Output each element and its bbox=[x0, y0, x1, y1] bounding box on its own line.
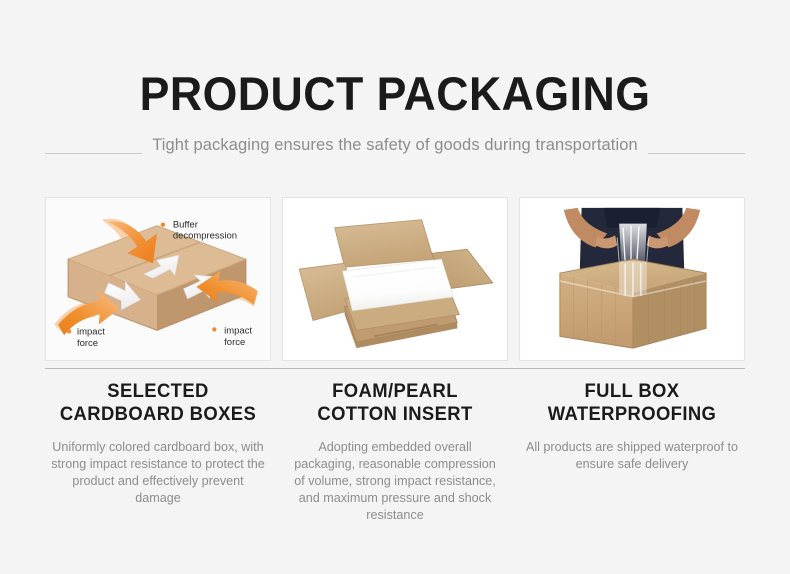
feature-selected-cardboard-boxes: SELECTED CARDBOARD BOXES Uniformly color… bbox=[45, 380, 271, 524]
card-foam-pearl-cotton-insert[interactable] bbox=[282, 197, 508, 361]
card-row: Buffer decompression impact force impact… bbox=[45, 197, 745, 361]
feature-heading: FULL BOX WATERPROOFING bbox=[522, 380, 741, 426]
subtitle-text: Tight packaging ensures the safety of go… bbox=[142, 136, 648, 154]
feature-full-box-waterproofing: FULL BOX WATERPROOFING All products are … bbox=[519, 380, 745, 524]
label-buffer-line2: decompression bbox=[173, 231, 237, 242]
subtitle-block: Tight packaging ensures the safety of go… bbox=[45, 134, 745, 164]
label-impact-left-line2: force bbox=[77, 338, 98, 349]
feature-body: Uniformly colored cardboard box, with st… bbox=[45, 439, 271, 507]
photo-person-wrapping-box bbox=[520, 198, 744, 360]
illustration-impact-box: Buffer decompression impact force impact… bbox=[46, 198, 270, 360]
feature-body: All products are shipped waterproof to e… bbox=[519, 439, 745, 473]
subtitle: Tight packaging ensures the safety of go… bbox=[45, 134, 745, 156]
feature-heading: FOAM/PEARL COTTON INSERT bbox=[285, 380, 504, 426]
label-impact-right-line1: impact bbox=[224, 325, 252, 336]
content-divider bbox=[45, 368, 745, 369]
feature-heading-line2: CARDBOARD BOXES bbox=[48, 403, 267, 426]
card-full-box-waterproofing[interactable] bbox=[519, 197, 745, 361]
feature-heading: SELECTED CARDBOARD BOXES bbox=[48, 380, 267, 426]
feature-heading-line1: SELECTED bbox=[48, 380, 267, 403]
feature-heading-line1: FULL BOX bbox=[522, 380, 741, 403]
label-impact-right-line2: force bbox=[224, 337, 245, 348]
label-buffer-line1: Buffer bbox=[173, 220, 198, 231]
feature-heading-line1: FOAM/PEARL bbox=[285, 380, 504, 403]
feature-body: Adopting embedded overall packaging, rea… bbox=[282, 439, 508, 524]
page-title: PRODUCT PACKAGING bbox=[20, 68, 771, 120]
feature-columns: SELECTED CARDBOARD BOXES Uniformly color… bbox=[45, 380, 745, 524]
photo-open-box-with-foam bbox=[283, 198, 507, 360]
product-packaging-infographic: PRODUCT PACKAGING Tight packaging ensure… bbox=[0, 0, 790, 574]
feature-foam-pearl-cotton-insert: FOAM/PEARL COTTON INSERT Adopting embedd… bbox=[282, 380, 508, 524]
feature-heading-line2: COTTON INSERT bbox=[285, 403, 504, 426]
feature-heading-line2: WATERPROOFING bbox=[522, 403, 741, 426]
card-selected-cardboard-boxes[interactable]: Buffer decompression impact force impact… bbox=[45, 197, 271, 361]
label-impact-left-line1: impact bbox=[77, 326, 105, 337]
